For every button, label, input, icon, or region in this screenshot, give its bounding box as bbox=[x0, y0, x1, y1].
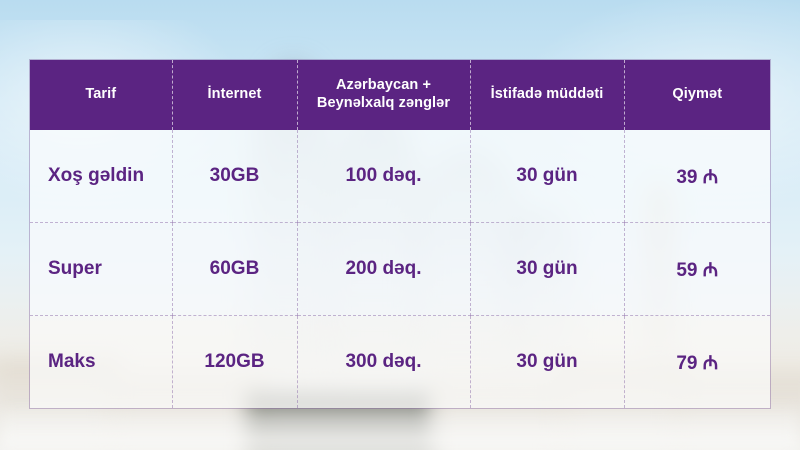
internet-value: 30GB bbox=[210, 165, 260, 186]
column-header-internet-label: İnternet bbox=[208, 86, 262, 102]
cell-tarif: Maks bbox=[30, 316, 172, 409]
table-header-row: Tarif İnternet Azərbaycan + Beynəlxalq z… bbox=[30, 60, 770, 130]
cell-price: 39 ₼ bbox=[624, 130, 770, 223]
column-header-validity-label: İstifadə müddəti bbox=[491, 86, 604, 102]
cell-internet: 60GB bbox=[172, 223, 297, 316]
validity-value: 30 gün bbox=[516, 258, 577, 279]
cell-tarif: Xoş gəldin bbox=[30, 130, 172, 223]
price-amount: 59 bbox=[676, 260, 697, 281]
cell-calls: 200 dəq. bbox=[297, 223, 470, 316]
column-header-tarif-label: Tarif bbox=[85, 86, 116, 102]
cell-price: 59 ₼ bbox=[624, 223, 770, 316]
skyline-ground bbox=[0, 410, 800, 450]
cell-validity: 30 gün bbox=[470, 130, 624, 223]
price-amount: 39 bbox=[676, 167, 697, 188]
column-header-calls: Azərbaycan + Beynəlxalq zənglər bbox=[297, 60, 470, 130]
column-header-calls-label-line2: Beynəlxalq zənglər bbox=[317, 95, 450, 111]
manat-currency-icon: ₼ bbox=[703, 352, 718, 374]
column-header-tarif: Tarif bbox=[30, 60, 172, 130]
table-row: Xoş gəldin 30GB 100 dəq. 30 gün 39 ₼ bbox=[30, 130, 770, 223]
tariff-plans-table: Tarif İnternet Azərbaycan + Beynəlxalq z… bbox=[30, 60, 770, 408]
table-body: Xoş gəldin 30GB 100 dəq. 30 gün 39 ₼ Sup… bbox=[30, 130, 770, 408]
validity-value: 30 gün bbox=[516, 165, 577, 186]
column-header-validity: İstifadə müddəti bbox=[470, 60, 624, 130]
cell-internet: 30GB bbox=[172, 130, 297, 223]
tarif-name: Maks bbox=[48, 351, 96, 372]
cell-internet: 120GB bbox=[172, 316, 297, 409]
tarif-name: Super bbox=[48, 258, 102, 279]
price-amount: 79 bbox=[676, 353, 697, 374]
cell-calls: 100 dəq. bbox=[297, 130, 470, 223]
manat-currency-icon: ₼ bbox=[703, 166, 718, 188]
cell-validity: 30 gün bbox=[470, 223, 624, 316]
manat-currency-icon: ₼ bbox=[703, 259, 718, 281]
internet-value: 60GB bbox=[210, 258, 260, 279]
column-header-internet: İnternet bbox=[172, 60, 297, 130]
cell-calls: 300 dəq. bbox=[297, 316, 470, 409]
tarif-name: Xoş gəldin bbox=[48, 165, 144, 186]
table-header: Tarif İnternet Azərbaycan + Beynəlxalq z… bbox=[30, 60, 770, 130]
table-row: Maks 120GB 300 dəq. 30 gün 79 ₼ bbox=[30, 316, 770, 409]
cell-validity: 30 gün bbox=[470, 316, 624, 409]
calls-value: 200 dəq. bbox=[345, 258, 421, 279]
calls-value: 100 dəq. bbox=[345, 165, 421, 186]
table-row: Super 60GB 200 dəq. 30 gün 59 ₼ bbox=[30, 223, 770, 316]
cell-tarif: Super bbox=[30, 223, 172, 316]
internet-value: 120GB bbox=[204, 351, 264, 372]
column-header-price: Qiymət bbox=[624, 60, 770, 130]
validity-value: 30 gün bbox=[516, 351, 577, 372]
column-header-calls-label-line1: Azərbaycan + bbox=[336, 77, 431, 93]
cell-price: 79 ₼ bbox=[624, 316, 770, 409]
column-header-price-label: Qiymət bbox=[672, 86, 722, 102]
calls-value: 300 dəq. bbox=[345, 351, 421, 372]
